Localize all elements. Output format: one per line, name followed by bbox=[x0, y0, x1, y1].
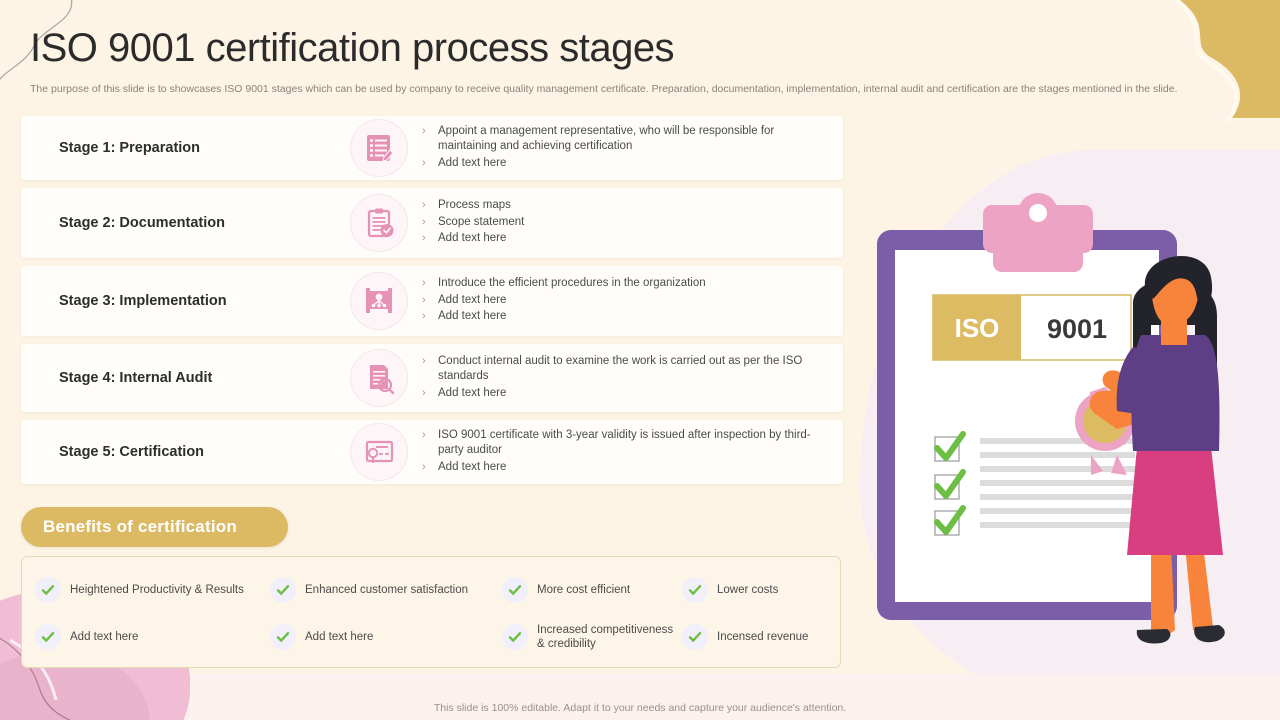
bullet-item: › Add text here bbox=[422, 460, 827, 476]
certificate-seal-icon bbox=[350, 423, 408, 481]
stage-bullets: › Conduct internal audit to examine the … bbox=[422, 354, 843, 403]
stage-label: Stage 4: Internal Audit bbox=[21, 370, 336, 386]
bullet-item: › Add text here bbox=[422, 386, 827, 402]
benefit-label: Heightened Productivity & Results bbox=[70, 583, 244, 597]
stage-row[interactable]: Stage 4: Internal Audit bbox=[21, 344, 843, 412]
bullet-item: › Scope statement bbox=[422, 215, 827, 231]
chevron-bullet-icon: › bbox=[422, 386, 438, 402]
document-checklist-pen-icon bbox=[350, 119, 408, 177]
chevron-bullet-icon: › bbox=[422, 354, 438, 370]
chevron-bullet-icon: › bbox=[422, 198, 438, 214]
check-icon bbox=[35, 577, 61, 603]
benefit-label: Add text here bbox=[70, 630, 138, 644]
bullet-item: › ISO 9001 certificate with 3-year valid… bbox=[422, 428, 827, 459]
bullet-text: Introduce the efficient procedures in th… bbox=[438, 276, 827, 292]
benefit-label: Incensed revenue bbox=[717, 630, 808, 644]
stage-list: Stage 1: Preparation bbox=[21, 116, 843, 484]
bullet-text: ISO 9001 certificate with 3-year validit… bbox=[438, 428, 827, 459]
check-icon bbox=[35, 624, 61, 650]
chevron-bullet-icon: › bbox=[422, 428, 438, 444]
bullet-text: Add text here bbox=[438, 156, 827, 172]
chevron-bullet-icon: › bbox=[422, 276, 438, 292]
benefit-item: Add text here bbox=[270, 613, 502, 660]
bullet-text: Add text here bbox=[438, 386, 827, 402]
check-icon bbox=[502, 624, 528, 650]
gold-wave-outline bbox=[1176, 0, 1236, 122]
page-title: ISO 9001 certification process stages bbox=[30, 26, 674, 71]
bullet-item: › Appoint a management representative, w… bbox=[422, 124, 827, 155]
check-icon bbox=[270, 577, 296, 603]
bullet-item: › Add text here bbox=[422, 231, 827, 247]
bullet-item: › Add text here bbox=[422, 293, 827, 309]
check-icon bbox=[502, 577, 528, 603]
benefit-item: Heightened Productivity & Results bbox=[35, 566, 270, 613]
chevron-bullet-icon: › bbox=[422, 231, 438, 247]
benefit-label: Lower costs bbox=[717, 583, 778, 597]
benefits-heading-label: Benefits of certification bbox=[43, 517, 237, 537]
stage-row[interactable]: Stage 2: Documentation bbox=[21, 188, 843, 258]
iso-certification-illustration: ISO 9001 bbox=[865, 175, 1265, 675]
presentation-board-icon bbox=[350, 272, 408, 330]
bullet-item: › Add text here bbox=[422, 309, 827, 325]
bullet-text: Conduct internal audit to examine the wo… bbox=[438, 354, 827, 385]
stage-label: Stage 2: Documentation bbox=[21, 215, 336, 231]
stage-icon-wrap bbox=[336, 119, 422, 177]
stage-bullets: › Introduce the efficient procedures in … bbox=[422, 276, 843, 326]
iso-badge-prefix-text: ISO bbox=[955, 313, 1000, 343]
bullet-text: Appoint a management representative, who… bbox=[438, 124, 827, 155]
chevron-bullet-icon: › bbox=[422, 309, 438, 325]
stage-icon-wrap bbox=[336, 194, 422, 252]
bullet-item: › Conduct internal audit to examine the … bbox=[422, 354, 827, 385]
chevron-bullet-icon: › bbox=[422, 156, 438, 172]
stage-icon-wrap bbox=[336, 272, 422, 330]
benefit-item: Enhanced customer satisfaction bbox=[270, 566, 502, 613]
stage-bullets: › ISO 9001 certificate with 3-year valid… bbox=[422, 428, 843, 477]
benefits-grid: Heightened Productivity & Results Enhanc… bbox=[21, 556, 841, 668]
bullet-text: Add text here bbox=[438, 460, 827, 476]
benefit-label: Enhanced customer satisfaction bbox=[305, 583, 468, 597]
bullet-text: Add text here bbox=[438, 231, 827, 247]
benefit-label: Add text here bbox=[305, 630, 373, 644]
slide-canvas: ISO 9001 certification process stages Th… bbox=[0, 0, 1280, 720]
stage-icon-wrap bbox=[336, 349, 422, 407]
gold-wave-shape bbox=[1180, 0, 1280, 118]
benefit-label: More cost efficient bbox=[537, 583, 630, 597]
check-icon bbox=[682, 624, 708, 650]
footer-note: This slide is 100% editable. Adapt it to… bbox=[0, 702, 1280, 714]
iso-badge-number-text: 9001 bbox=[1047, 314, 1107, 344]
stage-row[interactable]: Stage 1: Preparation bbox=[21, 116, 843, 180]
bullet-text: Scope statement bbox=[438, 215, 827, 231]
stage-row[interactable]: Stage 3: Implementation bbox=[21, 266, 843, 336]
bullet-item: › Introduce the efficient procedures in … bbox=[422, 276, 827, 292]
bullet-item: › Add text here bbox=[422, 156, 827, 172]
stage-bullets: › Appoint a management representative, w… bbox=[422, 124, 843, 173]
stage-label: Stage 1: Preparation bbox=[21, 140, 336, 156]
check-icon bbox=[682, 577, 708, 603]
clipboard-check-icon bbox=[350, 194, 408, 252]
chevron-bullet-icon: › bbox=[422, 293, 438, 309]
stage-label: Stage 3: Implementation bbox=[21, 293, 336, 309]
chevron-bullet-icon: › bbox=[422, 215, 438, 231]
benefit-item: Incensed revenue bbox=[682, 613, 842, 660]
benefit-item: Increased competitiveness & credibility bbox=[502, 613, 682, 660]
stage-bullets: › Process maps › Scope statement › Add t… bbox=[422, 198, 843, 248]
bullet-text: Process maps bbox=[438, 198, 827, 214]
check-icon bbox=[270, 624, 296, 650]
page-subtitle: The purpose of this slide is to showcase… bbox=[30, 82, 1230, 96]
benefit-item: More cost efficient bbox=[502, 566, 682, 613]
document-magnifier-icon bbox=[350, 349, 408, 407]
stage-icon-wrap bbox=[336, 423, 422, 481]
benefit-label: Increased competitiveness & credibility bbox=[537, 623, 682, 651]
stage-row[interactable]: Stage 5: Certification › ISO 900 bbox=[21, 420, 843, 484]
bullet-item: › Process maps bbox=[422, 198, 827, 214]
benefits-heading-pill[interactable]: Benefits of certification bbox=[21, 507, 288, 547]
chevron-bullet-icon: › bbox=[422, 124, 438, 140]
benefit-item: Lower costs bbox=[682, 566, 842, 613]
bullet-text: Add text here bbox=[438, 293, 827, 309]
chevron-bullet-icon: › bbox=[422, 460, 438, 476]
benefit-item: Add text here bbox=[35, 613, 270, 660]
stage-label: Stage 5: Certification bbox=[21, 444, 336, 460]
bullet-text: Add text here bbox=[438, 309, 827, 325]
